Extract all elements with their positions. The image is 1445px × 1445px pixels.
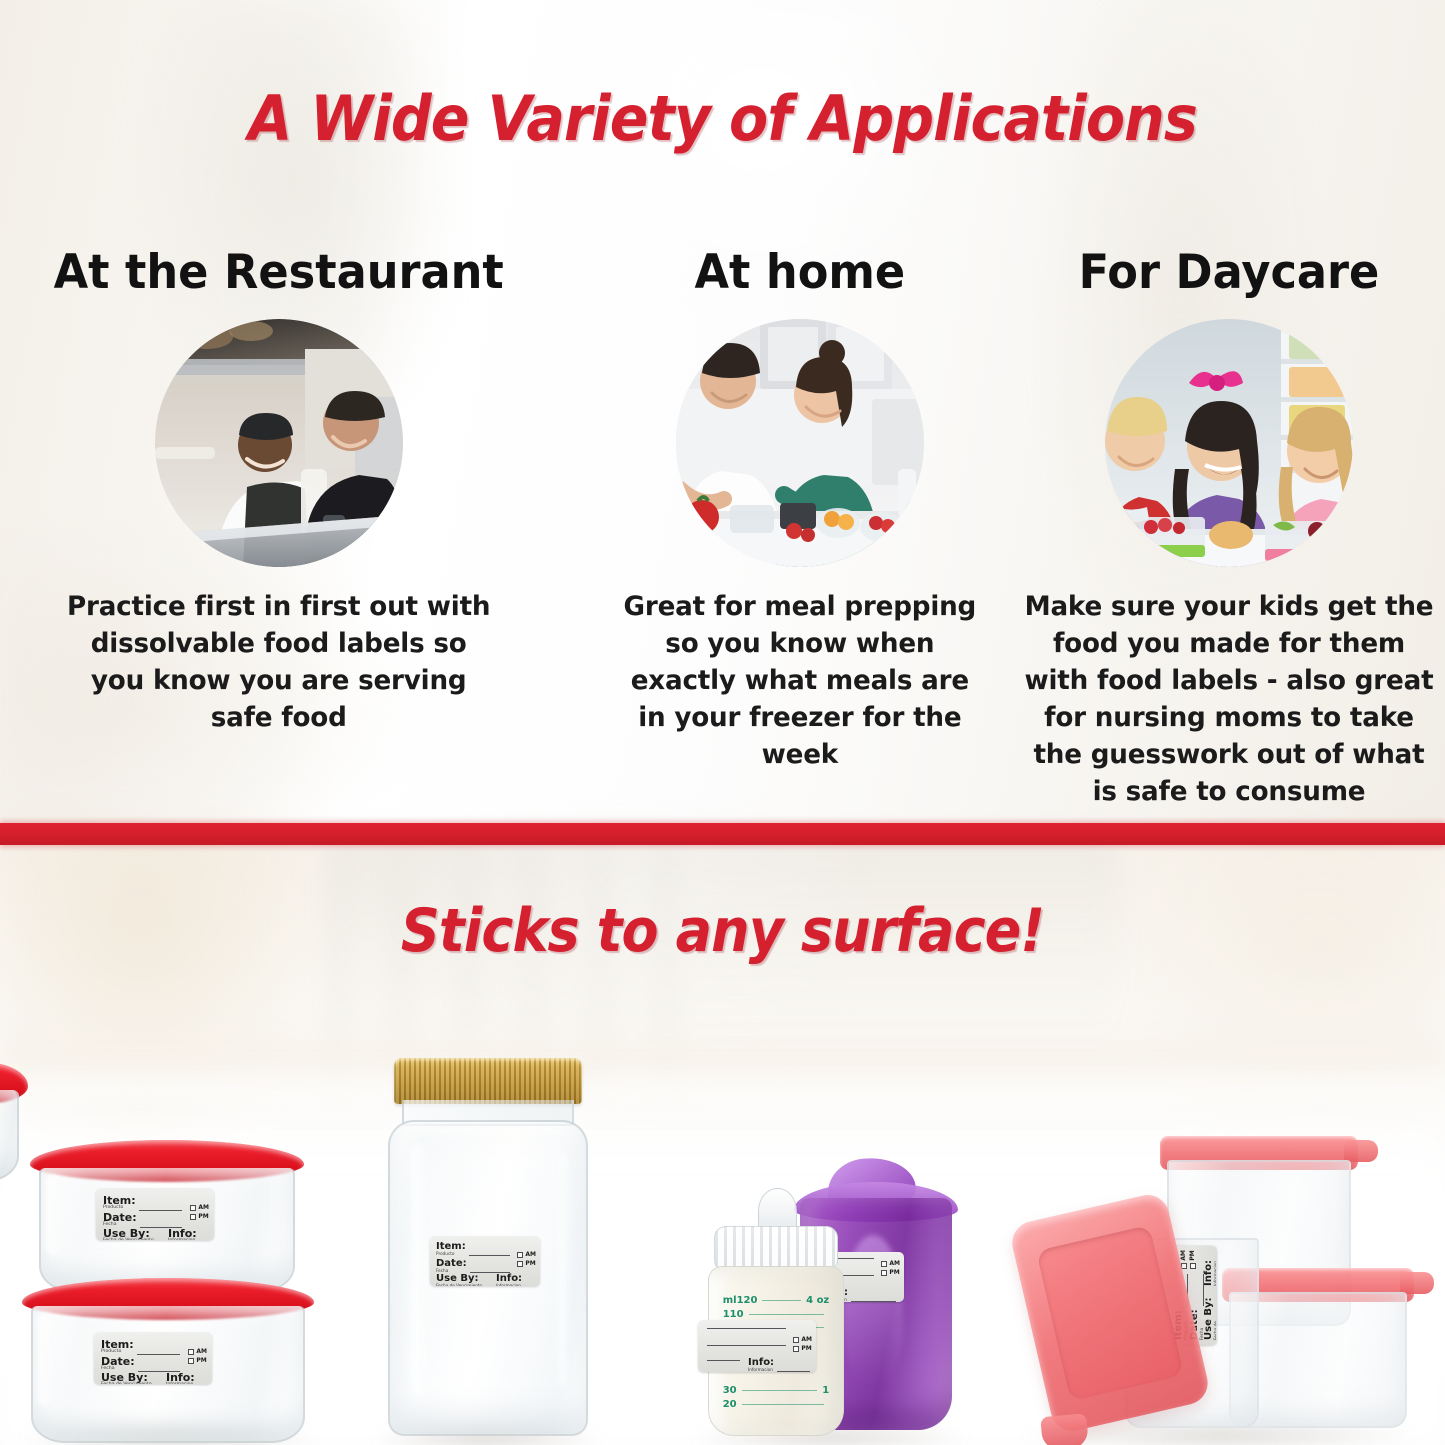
pm-checkbox[interactable] [188,1358,194,1364]
label-ampm-boxes: AM PM [1180,1250,1196,1269]
label-line-date [707,1345,786,1346]
label-line-useby [707,1360,740,1361]
label-field-info: Info: Informacion [166,1372,195,1384]
label-field-info: Info: Informacion [1204,1260,1216,1286]
application-column-daycare: For Daycare [1013,248,1445,811]
photo-home [676,319,924,567]
pm-text: PM [1189,1250,1196,1260]
photo-wrap-home [607,319,993,567]
column-body-restaurant: Practice first in first out with dissolv… [36,589,522,737]
pm-checkbox[interactable] [190,1214,196,1220]
label-line-item [137,1354,180,1355]
bottle-unit: ml [723,1294,737,1308]
pm-text: PM [198,1213,208,1220]
column-heading-restaurant: At the Restaurant [41,248,517,297]
application-column-home: At home [607,248,993,774]
pm-text: PM [801,1345,811,1352]
label-field-info: Info: Informacion [496,1274,522,1286]
am-checkbox[interactable] [188,1349,194,1355]
application-column-restaurant: At the Restaurant [28,248,529,737]
label-ampm-boxes: AM PM [190,1204,209,1220]
am-text: AM [1180,1250,1187,1261]
dissolvable-label-jar: Item: Producto Date: Fecha AM PM [430,1236,540,1286]
label-line-item [139,1210,182,1211]
pm-checkbox[interactable] [881,1270,887,1276]
label-field-date: Date: Fecha [436,1259,467,1273]
am-checkbox[interactable] [881,1261,887,1267]
bottle-value-120: 120 [737,1294,758,1308]
label-line-info [851,1301,896,1302]
product-showcase: Item: Producto Date: Fecha AM PM [0,1040,1445,1445]
label-field-date: Date: Fecha [103,1212,137,1228]
page-title: A Wide Variety of Applications [58,82,1387,155]
pm-checkbox[interactable] [793,1346,799,1352]
label-ampm-boxes: AM PM [793,1336,812,1352]
glass-round-container-bottom: Item: Producto Date: Fecha AM PM [22,1278,314,1443]
photo-wrap-daycare [1013,319,1445,567]
pm-checkbox[interactable] [517,1261,523,1267]
bottle-value-110: 110 [723,1308,744,1322]
bottle-oz: 4 oz [806,1294,829,1308]
dissolvable-label-bottle: AM PM Info: Informacion [698,1320,816,1372]
am-text: AM [889,1260,900,1267]
surface-section-title: Sticks to any surface! [72,896,1373,966]
bottle-lower-sub: 1 [822,1384,829,1398]
square-mason-jar: Item: Producto Date: Fecha AM PM [388,1058,588,1436]
glass-highlight-top [46,1174,64,1256]
label-ampm-boxes: AM PM [517,1251,536,1267]
am-checkbox[interactable] [517,1252,523,1258]
label-field-date: Date: Fecha [101,1356,135,1372]
am-checkbox[interactable] [190,1205,196,1211]
column-heading-daycare: For Daycare [1024,248,1434,297]
dissolvable-label-glass-bottom: Item: Producto Date: Fecha AM PM [94,1332,212,1384]
red-divider-bar [0,823,1445,845]
label-ampm-boxes: AM PM [881,1260,900,1276]
column-body-home: Great for meal prepping so you know when… [613,589,987,774]
gold-jar-lid [394,1058,582,1104]
label-line-item [707,1328,786,1329]
glass-body [0,1090,19,1182]
label-ampm-boxes: AM PM [188,1348,207,1364]
plastic-lid-tab-tall [1344,1140,1378,1162]
pm-checkbox[interactable] [1190,1263,1196,1269]
column-heading-home: At home [617,248,983,297]
pm-text: PM [196,1357,206,1364]
glass-round-container-top: Item: Producto Date: Fecha AM PM [30,1140,304,1292]
bottle-measurement-markings-lower: 301 20 [723,1384,830,1411]
dissolvable-label-glass-top: Item: Producto Date: Fecha AM PM [96,1188,214,1240]
infographic-page: A Wide Variety of Applications At the Re… [0,0,1445,1445]
label-field-info: Info: Informacion [748,1358,774,1372]
am-text: AM [198,1204,209,1211]
bottle-value-20: 20 [723,1398,737,1412]
applications-row: At the Restaurant [0,248,1445,808]
pm-text: PM [889,1269,899,1276]
label-field-useby: Use By: Fecha de Vencimiento [436,1274,482,1286]
am-text: AM [525,1251,536,1258]
label-field-useby: Use By: Fecha de Vencimiento [1204,1295,1216,1340]
label-line-item [469,1255,510,1256]
label-field-useby: Use By: Fecha de Vencimiento [103,1228,154,1240]
am-text: AM [196,1348,207,1355]
photo-wrap-restaurant [28,319,529,567]
label-line-info [777,1371,810,1372]
photo-restaurant [155,319,403,567]
label-field-item: Item: Producto [101,1339,134,1355]
am-checkbox[interactable] [793,1337,799,1343]
glass-highlight-bottom [38,1312,56,1407]
pm-text: PM [525,1260,535,1267]
am-text: AM [801,1336,812,1343]
plastic-lid-tab-short [1400,1272,1434,1294]
label-field-useby: Use By: Fecha de Vencimiento [101,1372,152,1384]
column-body-daycare: Make sure your kids get the food you mad… [1020,589,1439,811]
label-field-item: Item: Producto [436,1242,466,1256]
label-field-item: Item: Producto [103,1195,136,1211]
photo-daycare [1105,319,1353,567]
baby-bottle: ml1204 oz 110 100 den 301 20 AM PM [702,1188,850,1436]
bottle-value-30: 30 [723,1384,737,1398]
glass-container-edge-crop [0,1062,28,1182]
label-field-info: Info: Informacion [168,1228,197,1240]
